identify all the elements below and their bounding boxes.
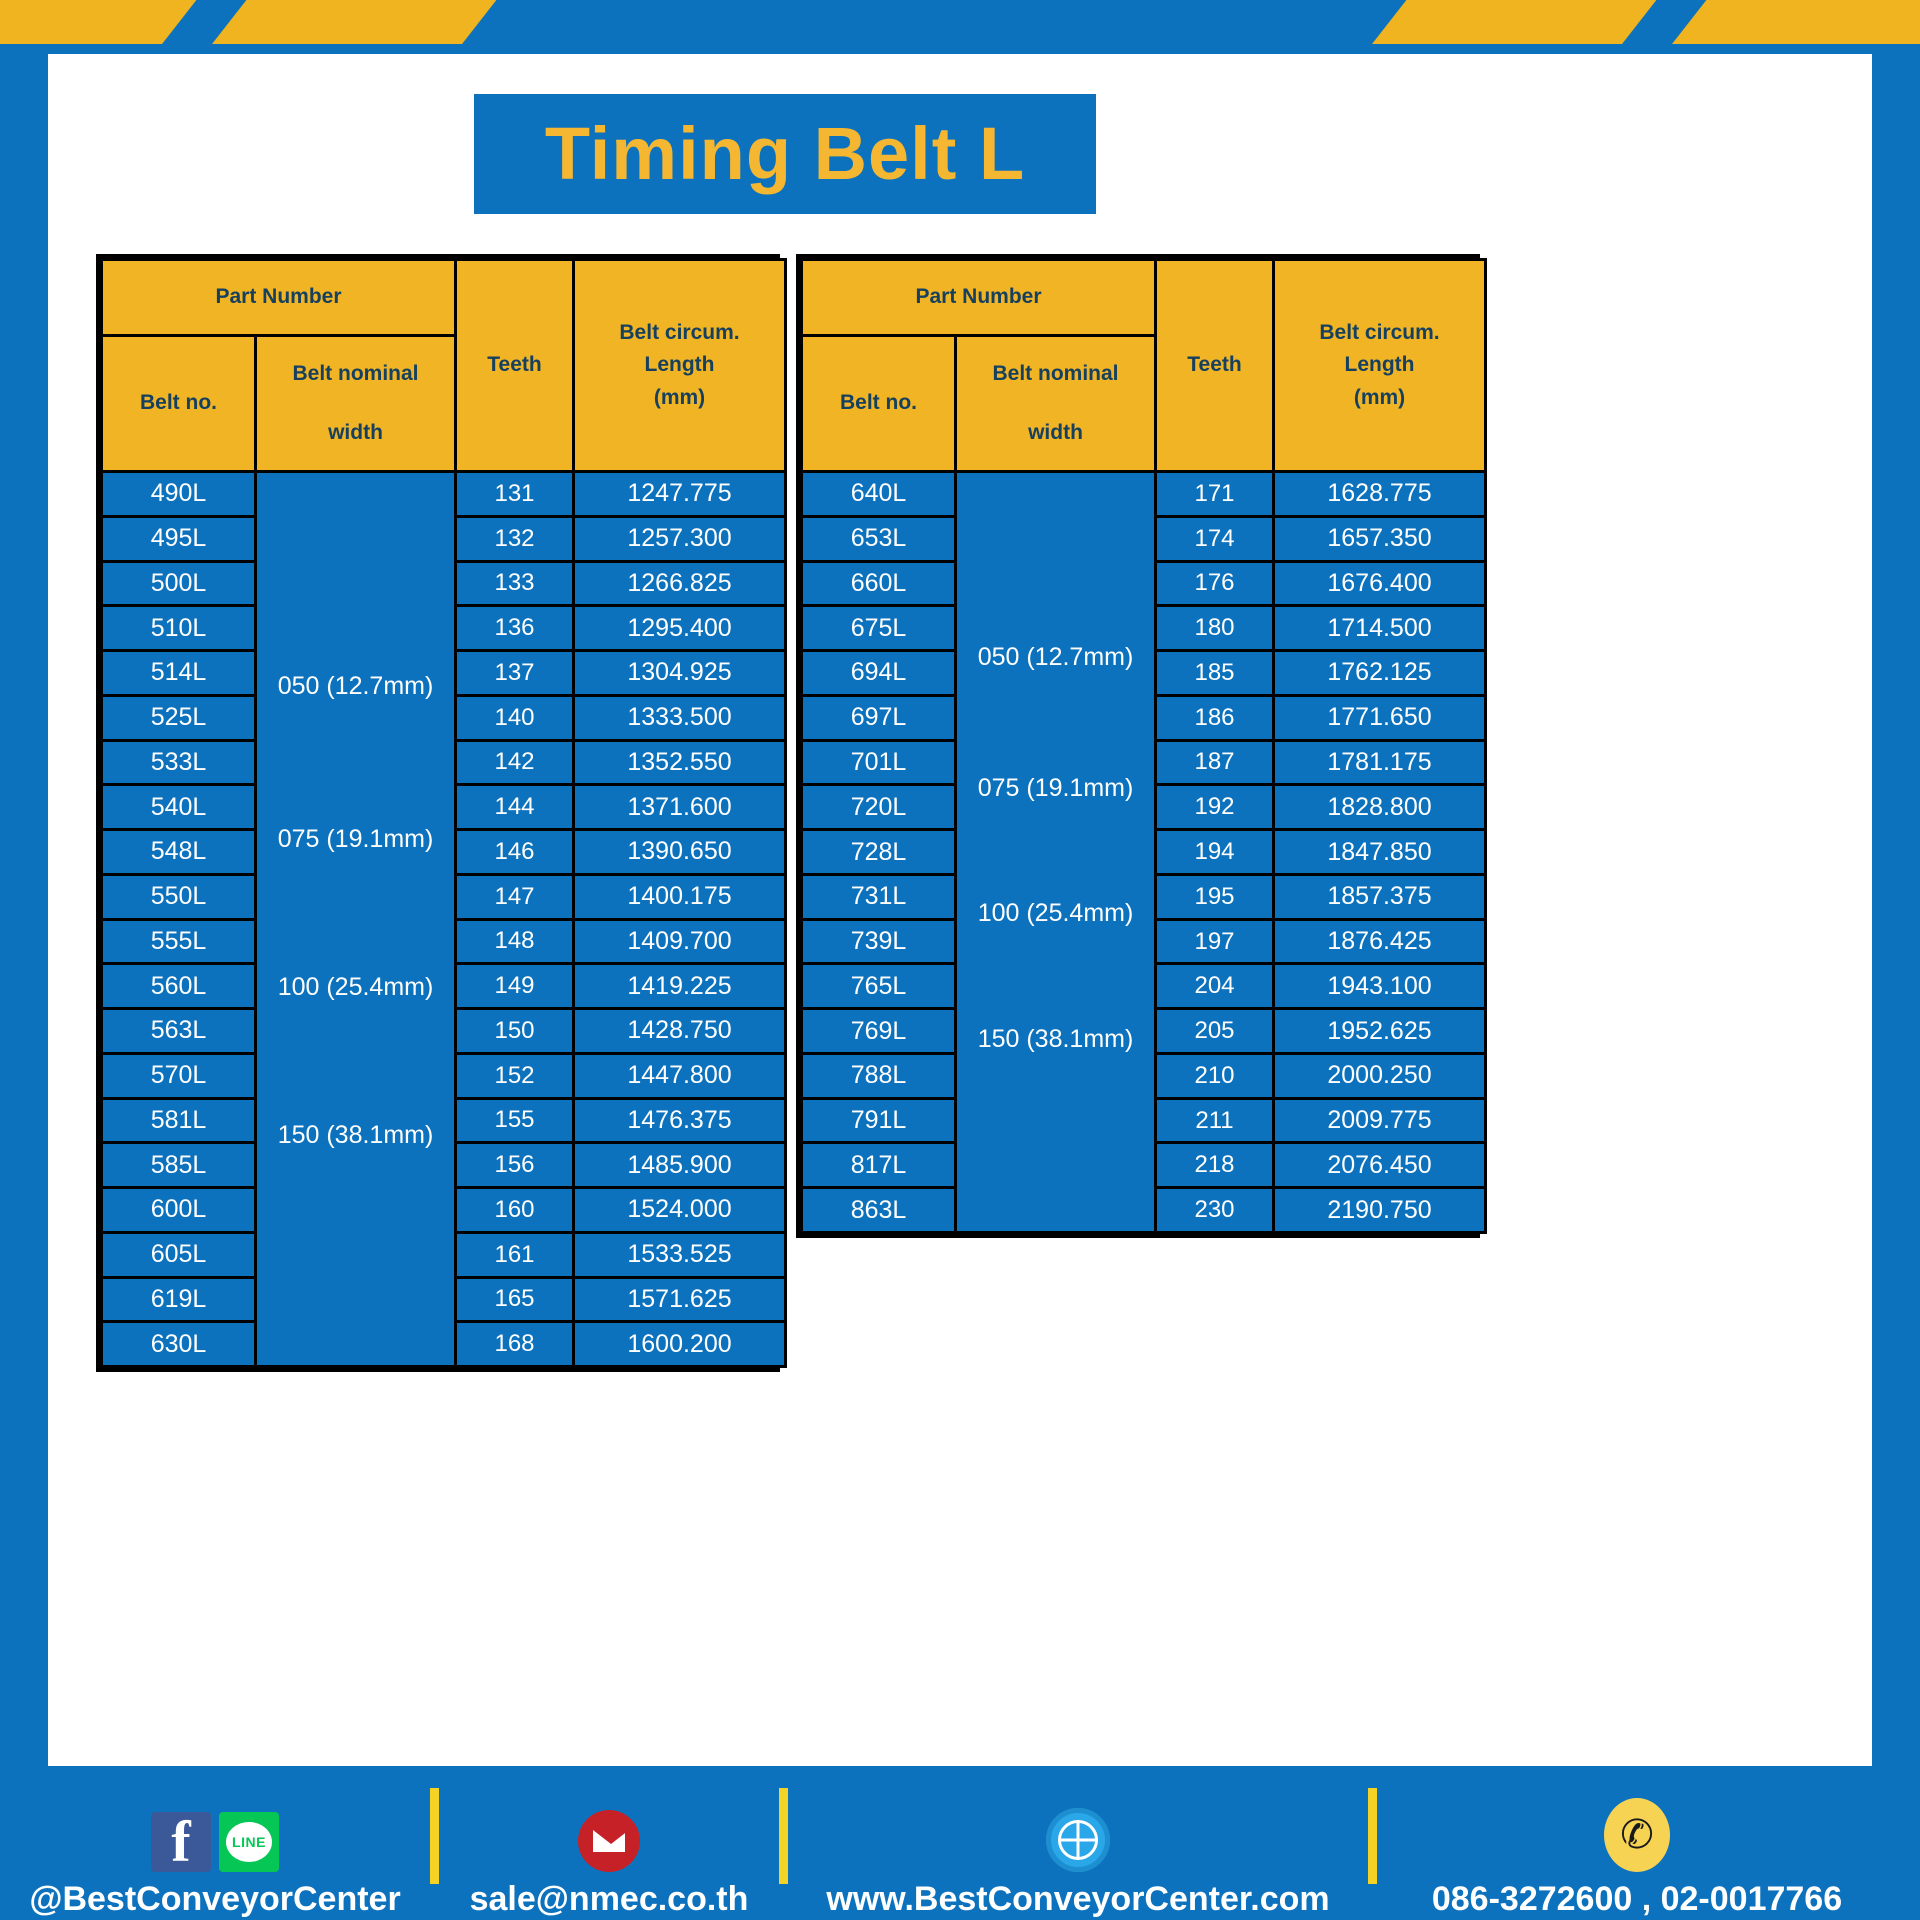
belt-nominal-width-label: 150 (38.1mm) bbox=[257, 1121, 454, 1150]
cell-belt-length: 1419.225 bbox=[574, 964, 786, 1009]
cell-belt-no: 863L bbox=[802, 1188, 956, 1233]
cell-belt-no: 570L bbox=[102, 1053, 256, 1098]
cell-belt-length: 1247.775 bbox=[574, 472, 786, 517]
table-right: Part Number Teeth Belt circum. Length (m… bbox=[800, 258, 1487, 1234]
footer-divider bbox=[779, 1788, 788, 1884]
header-belt-no: Belt no. bbox=[802, 336, 956, 472]
header-teeth: Teeth bbox=[1156, 260, 1274, 472]
cell-belt-no: 550L bbox=[102, 874, 256, 919]
cell-teeth: 142 bbox=[456, 740, 574, 785]
table-left: Part Number Teeth Belt circum. Length (m… bbox=[100, 258, 787, 1368]
facebook-handle: @BestConveyorCenter bbox=[29, 1878, 400, 1920]
cell-teeth: 131 bbox=[456, 472, 574, 517]
chevron-stripe bbox=[0, 0, 198, 44]
cell-belt-length: 2190.750 bbox=[1274, 1188, 1486, 1233]
cell-belt-length: 2000.250 bbox=[1274, 1053, 1486, 1098]
cell-teeth: 168 bbox=[456, 1322, 574, 1367]
cell-belt-no: 585L bbox=[102, 1143, 256, 1188]
cell-teeth: 140 bbox=[456, 695, 574, 740]
cell-teeth: 210 bbox=[1156, 1053, 1274, 1098]
cell-teeth: 174 bbox=[1156, 516, 1274, 561]
chevron-stripe bbox=[1672, 0, 1920, 44]
cell-belt-no: 675L bbox=[802, 606, 956, 651]
header-width-line1: Belt nominal bbox=[257, 358, 454, 391]
footer-facebook[interactable]: LINE @BestConveyorCenter bbox=[0, 1812, 430, 1920]
cell-belt-no: 694L bbox=[802, 651, 956, 696]
cell-teeth: 204 bbox=[1156, 964, 1274, 1009]
header-belt-no: Belt no. bbox=[102, 336, 256, 472]
contact-footer: LINE @BestConveyorCenter sale@nmec.co.th… bbox=[0, 1766, 1920, 1920]
cell-teeth: 211 bbox=[1156, 1098, 1274, 1143]
line-icon[interactable]: LINE bbox=[219, 1812, 279, 1872]
cell-teeth: 165 bbox=[456, 1277, 574, 1322]
cell-teeth: 160 bbox=[456, 1188, 574, 1233]
cell-teeth: 187 bbox=[1156, 740, 1274, 785]
cell-belt-length: 1828.800 bbox=[1274, 785, 1486, 830]
cell-belt-no: 728L bbox=[802, 830, 956, 875]
cell-belt-length: 1857.375 bbox=[1274, 874, 1486, 919]
header-belt-circum: Belt circum. Length (mm) bbox=[1274, 260, 1486, 472]
cell-belt-no: 701L bbox=[802, 740, 956, 785]
cell-teeth: 171 bbox=[1156, 472, 1274, 517]
timing-belt-table-left: Part Number Teeth Belt circum. Length (m… bbox=[96, 254, 780, 1372]
header-teeth: Teeth bbox=[456, 260, 574, 472]
header-width-line2: width bbox=[957, 417, 1154, 450]
header-part-number: Part Number bbox=[102, 260, 456, 336]
chevron-stripe bbox=[212, 0, 498, 44]
header-belt-nominal-width: Belt nominal width bbox=[956, 336, 1156, 472]
cell-belt-length: 1390.650 bbox=[574, 830, 786, 875]
timing-belt-table-right: Part Number Teeth Belt circum. Length (m… bbox=[796, 254, 1480, 1238]
cell-belt-length: 1476.375 bbox=[574, 1098, 786, 1143]
cell-teeth: 161 bbox=[456, 1232, 574, 1277]
cell-belt-length: 1876.425 bbox=[1274, 919, 1486, 964]
table-right-body: 640L050 (12.7mm)075 (19.1mm)100 (25.4mm)… bbox=[802, 472, 1486, 1233]
cell-belt-no: 540L bbox=[102, 785, 256, 830]
cell-belt-no: 563L bbox=[102, 1009, 256, 1054]
belt-nominal-width-label: 050 (12.7mm) bbox=[957, 643, 1154, 672]
line-label: LINE bbox=[226, 1822, 272, 1862]
cell-belt-length: 1676.400 bbox=[1274, 561, 1486, 606]
cell-belt-length: 1304.925 bbox=[574, 651, 786, 696]
cell-belt-length: 1428.750 bbox=[574, 1009, 786, 1054]
cell-belt-no: 731L bbox=[802, 874, 956, 919]
chevron-stripe bbox=[1372, 0, 1658, 44]
cell-teeth: 146 bbox=[456, 830, 574, 875]
cell-belt-no: 600L bbox=[102, 1188, 256, 1233]
cell-belt-no: 769L bbox=[802, 1009, 956, 1054]
cell-belt-no: 510L bbox=[102, 606, 256, 651]
header-belt-circum-line3: (mm) bbox=[1275, 382, 1484, 415]
footer-email[interactable]: sale@nmec.co.th bbox=[439, 1810, 779, 1920]
cell-belt-no: 548L bbox=[102, 830, 256, 875]
cell-belt-no: 788L bbox=[802, 1053, 956, 1098]
website-url: www.BestConveyorCenter.com bbox=[826, 1878, 1329, 1920]
cell-belt-length: 1266.825 bbox=[574, 561, 786, 606]
header-belt-circum-line3: (mm) bbox=[575, 382, 784, 415]
cell-belt-no: 495L bbox=[102, 516, 256, 561]
cell-belt-no: 490L bbox=[102, 472, 256, 517]
belt-nominal-width-label: 075 (19.1mm) bbox=[957, 774, 1154, 803]
cell-teeth: 180 bbox=[1156, 606, 1274, 651]
header-width-line1: Belt nominal bbox=[957, 358, 1154, 391]
cell-belt-length: 1657.350 bbox=[1274, 516, 1486, 561]
cell-teeth: 155 bbox=[456, 1098, 574, 1143]
cell-belt-length: 1771.650 bbox=[1274, 695, 1486, 740]
cell-teeth: 149 bbox=[456, 964, 574, 1009]
footer-website[interactable]: www.BestConveyorCenter.com bbox=[788, 1808, 1368, 1920]
cell-teeth: 230 bbox=[1156, 1188, 1274, 1233]
header-part-number: Part Number bbox=[802, 260, 1156, 336]
header-belt-circum: Belt circum. Length (mm) bbox=[574, 260, 786, 472]
cell-teeth: 147 bbox=[456, 874, 574, 919]
cell-belt-no: 739L bbox=[802, 919, 956, 964]
cell-belt-no: 817L bbox=[802, 1143, 956, 1188]
cell-belt-no: 720L bbox=[802, 785, 956, 830]
cell-belt-no: 653L bbox=[802, 516, 956, 561]
header-width-line2: width bbox=[257, 417, 454, 450]
table-header-row-1: Part Number Teeth Belt circum. Length (m… bbox=[802, 260, 1486, 336]
cell-belt-length: 1257.300 bbox=[574, 516, 786, 561]
cell-belt-no: 619L bbox=[102, 1277, 256, 1322]
header-belt-circum-line2: Length bbox=[575, 349, 784, 382]
cell-belt-no: 560L bbox=[102, 964, 256, 1009]
belt-nominal-width-label: 150 (38.1mm) bbox=[957, 1025, 1154, 1054]
table-row: 490L050 (12.7mm)075 (19.1mm)100 (25.4mm)… bbox=[102, 472, 786, 517]
cell-teeth: 218 bbox=[1156, 1143, 1274, 1188]
cell-belt-length: 1714.500 bbox=[1274, 606, 1486, 651]
cell-belt-nominal-width-merged: 050 (12.7mm)075 (19.1mm)100 (25.4mm)150 … bbox=[956, 472, 1156, 1233]
belt-nominal-width-label: 100 (25.4mm) bbox=[957, 899, 1154, 928]
cell-belt-nominal-width-merged: 050 (12.7mm)075 (19.1mm)100 (25.4mm)150 … bbox=[256, 472, 456, 1367]
cell-belt-no: 500L bbox=[102, 561, 256, 606]
cell-belt-length: 1781.175 bbox=[1274, 740, 1486, 785]
cell-belt-no: 581L bbox=[102, 1098, 256, 1143]
cell-teeth: 176 bbox=[1156, 561, 1274, 606]
email-address: sale@nmec.co.th bbox=[470, 1878, 749, 1920]
belt-nominal-width-label: 075 (19.1mm) bbox=[257, 825, 454, 854]
cell-teeth: 205 bbox=[1156, 1009, 1274, 1054]
cell-belt-length: 2009.775 bbox=[1274, 1098, 1486, 1143]
cell-belt-no: 765L bbox=[802, 964, 956, 1009]
cell-belt-length: 1600.200 bbox=[574, 1322, 786, 1367]
cell-teeth: 195 bbox=[1156, 874, 1274, 919]
cell-belt-length: 2076.450 bbox=[1274, 1143, 1486, 1188]
cell-belt-length: 1524.000 bbox=[574, 1188, 786, 1233]
cell-belt-length: 1533.525 bbox=[574, 1232, 786, 1277]
cell-belt-no: 791L bbox=[802, 1098, 956, 1143]
cell-teeth: 137 bbox=[456, 651, 574, 696]
cell-belt-no: 640L bbox=[802, 472, 956, 517]
belt-nominal-width-label: 100 (25.4mm) bbox=[257, 973, 454, 1002]
cell-belt-no: 660L bbox=[802, 561, 956, 606]
page-title-banner: Timing Belt L bbox=[474, 94, 1096, 214]
header-belt-circum-line2: Length bbox=[1275, 349, 1484, 382]
footer-divider bbox=[1368, 1788, 1377, 1884]
cell-belt-length: 1571.625 bbox=[574, 1277, 786, 1322]
cell-belt-no: 605L bbox=[102, 1232, 256, 1277]
header-belt-circum-line1: Belt circum. bbox=[575, 317, 784, 350]
table-row: 640L050 (12.7mm)075 (19.1mm)100 (25.4mm)… bbox=[802, 472, 1486, 517]
cell-belt-length: 1295.400 bbox=[574, 606, 786, 651]
cell-teeth: 150 bbox=[456, 1009, 574, 1054]
cell-teeth: 133 bbox=[456, 561, 574, 606]
cell-teeth: 148 bbox=[456, 919, 574, 964]
facebook-icon[interactable] bbox=[151, 1812, 211, 1872]
cell-belt-no: 525L bbox=[102, 695, 256, 740]
cell-belt-length: 1333.500 bbox=[574, 695, 786, 740]
email-icon[interactable] bbox=[578, 1810, 640, 1872]
cell-belt-no: 514L bbox=[102, 651, 256, 696]
cell-belt-length: 1352.550 bbox=[574, 740, 786, 785]
cell-belt-length: 1447.800 bbox=[574, 1053, 786, 1098]
table-header-row-1: Part Number Teeth Belt circum. Length (m… bbox=[102, 260, 786, 336]
cell-teeth: 194 bbox=[1156, 830, 1274, 875]
cell-teeth: 192 bbox=[1156, 785, 1274, 830]
cell-teeth: 144 bbox=[456, 785, 574, 830]
cell-teeth: 136 bbox=[456, 606, 574, 651]
cell-belt-no: 630L bbox=[102, 1322, 256, 1367]
header-belt-nominal-width: Belt nominal width bbox=[256, 336, 456, 472]
cell-teeth: 152 bbox=[456, 1053, 574, 1098]
belt-nominal-width-label: 050 (12.7mm) bbox=[257, 672, 454, 701]
footer-phone[interactable]: ✆ 086-3272600 , 02-0017766 bbox=[1377, 1798, 1897, 1920]
phone-numbers: 086-3272600 , 02-0017766 bbox=[1432, 1878, 1842, 1920]
cell-belt-length: 1400.175 bbox=[574, 874, 786, 919]
cell-belt-no: 697L bbox=[802, 695, 956, 740]
header-belt-circum-line1: Belt circum. bbox=[1275, 317, 1484, 350]
cell-teeth: 186 bbox=[1156, 695, 1274, 740]
cell-belt-no: 533L bbox=[102, 740, 256, 785]
cell-belt-no: 555L bbox=[102, 919, 256, 964]
phone-icon[interactable]: ✆ bbox=[1604, 1798, 1670, 1872]
cell-belt-length: 1628.775 bbox=[1274, 472, 1486, 517]
cell-belt-length: 1371.600 bbox=[574, 785, 786, 830]
cell-belt-length: 1762.125 bbox=[1274, 651, 1486, 696]
cell-belt-length: 1409.700 bbox=[574, 919, 786, 964]
footer-divider bbox=[430, 1788, 439, 1884]
table-left-body: 490L050 (12.7mm)075 (19.1mm)100 (25.4mm)… bbox=[102, 472, 786, 1367]
cell-teeth: 197 bbox=[1156, 919, 1274, 964]
page-title: Timing Belt L bbox=[545, 117, 1025, 191]
cell-belt-length: 1952.625 bbox=[1274, 1009, 1486, 1054]
cell-teeth: 156 bbox=[456, 1143, 574, 1188]
top-decorative-band bbox=[0, 0, 1920, 56]
page-canvas: Timing Belt L Part Number Teeth Belt cir… bbox=[48, 54, 1872, 1766]
cell-teeth: 132 bbox=[456, 516, 574, 561]
cell-belt-length: 1847.850 bbox=[1274, 830, 1486, 875]
globe-icon[interactable] bbox=[1046, 1808, 1110, 1872]
cell-teeth: 185 bbox=[1156, 651, 1274, 696]
cell-belt-length: 1485.900 bbox=[574, 1143, 786, 1188]
cell-belt-length: 1943.100 bbox=[1274, 964, 1486, 1009]
